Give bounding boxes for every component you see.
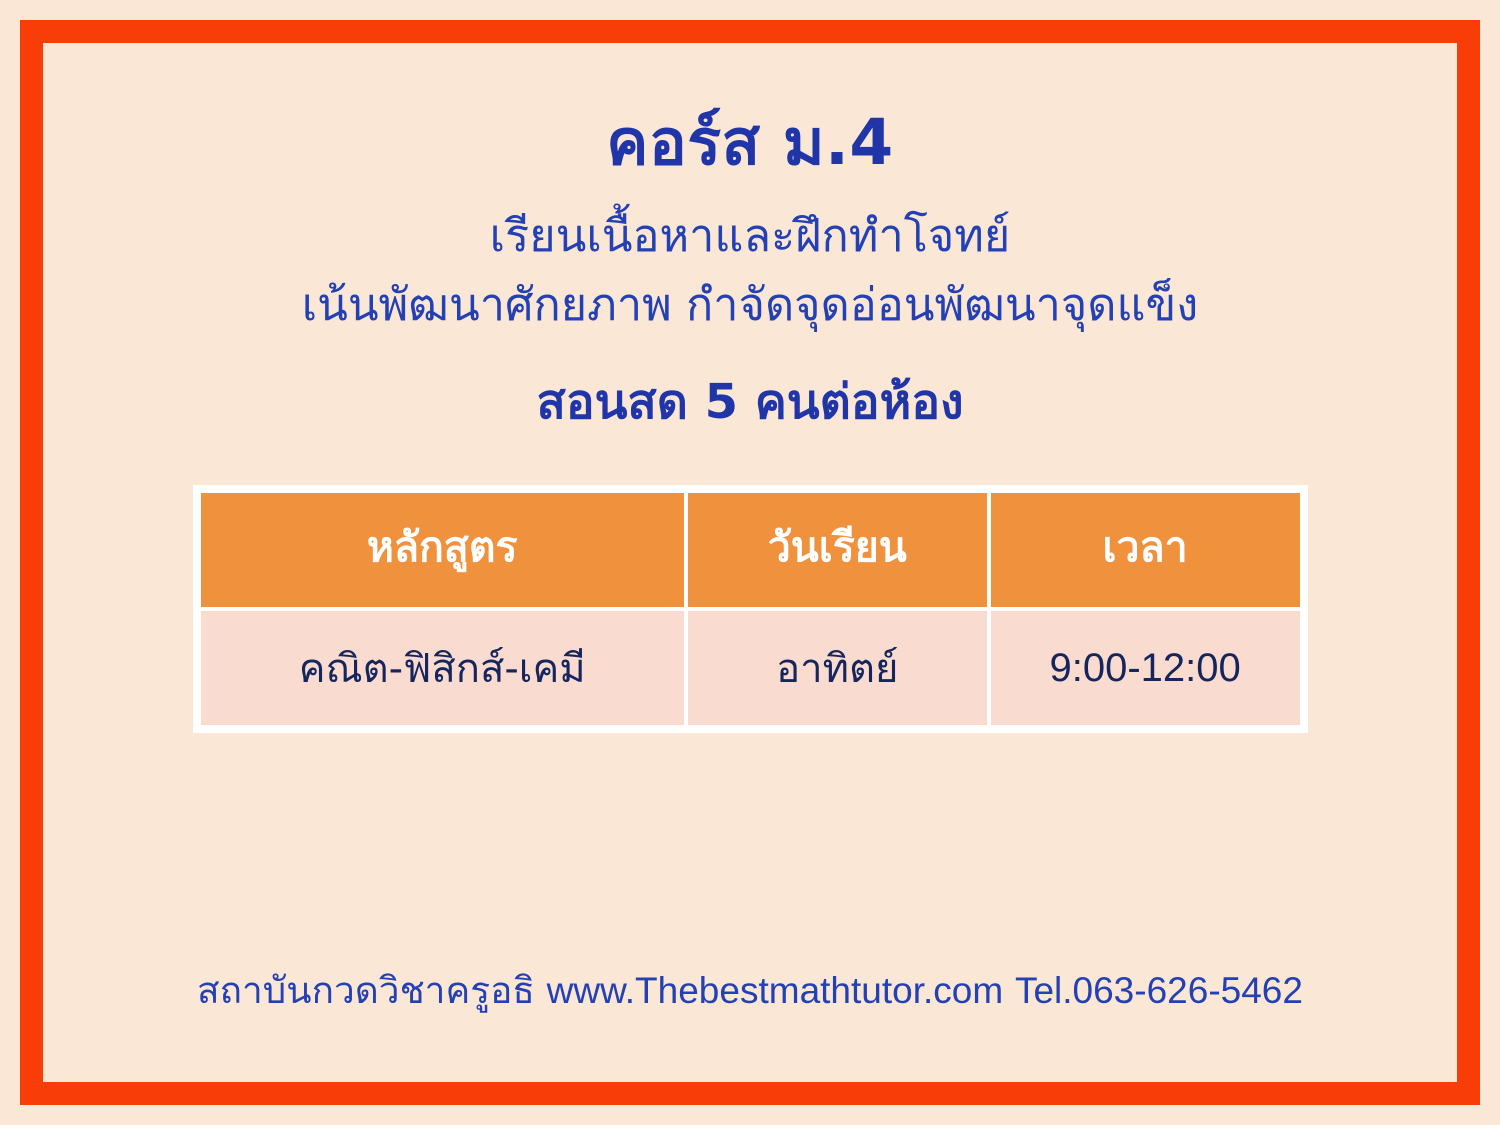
poster-canvas: คอร์ส ม.4 เรียนเนื้อหาและฝึกทำโจทย์ เน้น… — [0, 0, 1500, 1125]
subtitle-line-1: เรียนเนื้อหาและฝึกทำโจทย์ — [302, 202, 1199, 270]
table-row: คณิต-ฟิสิกส์-เคมี อาทิตย์ 9:00-12:00 — [201, 611, 1300, 725]
column-header-day: วันเรียน — [688, 493, 987, 607]
cell-course: คณิต-ฟิสิกส์-เคมี — [201, 611, 684, 725]
page-title: คอร์ส ม.4 — [606, 63, 894, 176]
poster-content: คอร์ส ม.4 เรียนเนื้อหาและฝึกทำโจทย์ เน้น… — [20, 20, 1480, 1105]
table-header-row: หลักสูตร วันเรียน เวลา — [201, 493, 1300, 607]
schedule-table: หลักสูตร วันเรียน เวลา คณิต-ฟิสิกส์-เคมี… — [197, 489, 1304, 729]
highlight-text: สอนสด 5 คนต่อห้อง — [536, 339, 963, 430]
cell-time: 9:00-12:00 — [991, 611, 1300, 725]
footer-contact: สถาบันกวดวิชาครูอธิ www.Thebestmathtutor… — [197, 969, 1303, 1075]
footer-website[interactable]: www.Thebestmathtutor.com — [547, 970, 1004, 1011]
footer-institute: สถาบันกวดวิชาครูอธิ — [197, 969, 535, 1012]
schedule-table-head: หลักสูตร วันเรียน เวลา — [201, 493, 1300, 607]
column-header-course: หลักสูตร — [201, 493, 684, 607]
schedule-table-body: คณิต-ฟิสิกส์-เคมี อาทิตย์ 9:00-12:00 — [201, 611, 1300, 725]
column-header-time: เวลา — [991, 493, 1300, 607]
schedule-table-container: หลักสูตร วันเรียน เวลา คณิต-ฟิสิกส์-เคมี… — [193, 485, 1308, 733]
footer-gap-1 — [535, 969, 547, 1012]
cell-day: อาทิตย์ — [688, 611, 987, 725]
footer-gap-2 — [1003, 969, 1015, 1012]
subtitle-block: เรียนเนื้อหาและฝึกทำโจทย์ เน้นพัฒนาศักยภ… — [302, 202, 1199, 339]
footer-phone[interactable]: Tel.063-626-5462 — [1015, 970, 1303, 1011]
subtitle-line-2: เน้นพัฒนาศักยภาพ กำจัดจุดอ่อนพัฒนาจุดแข็… — [302, 271, 1199, 339]
